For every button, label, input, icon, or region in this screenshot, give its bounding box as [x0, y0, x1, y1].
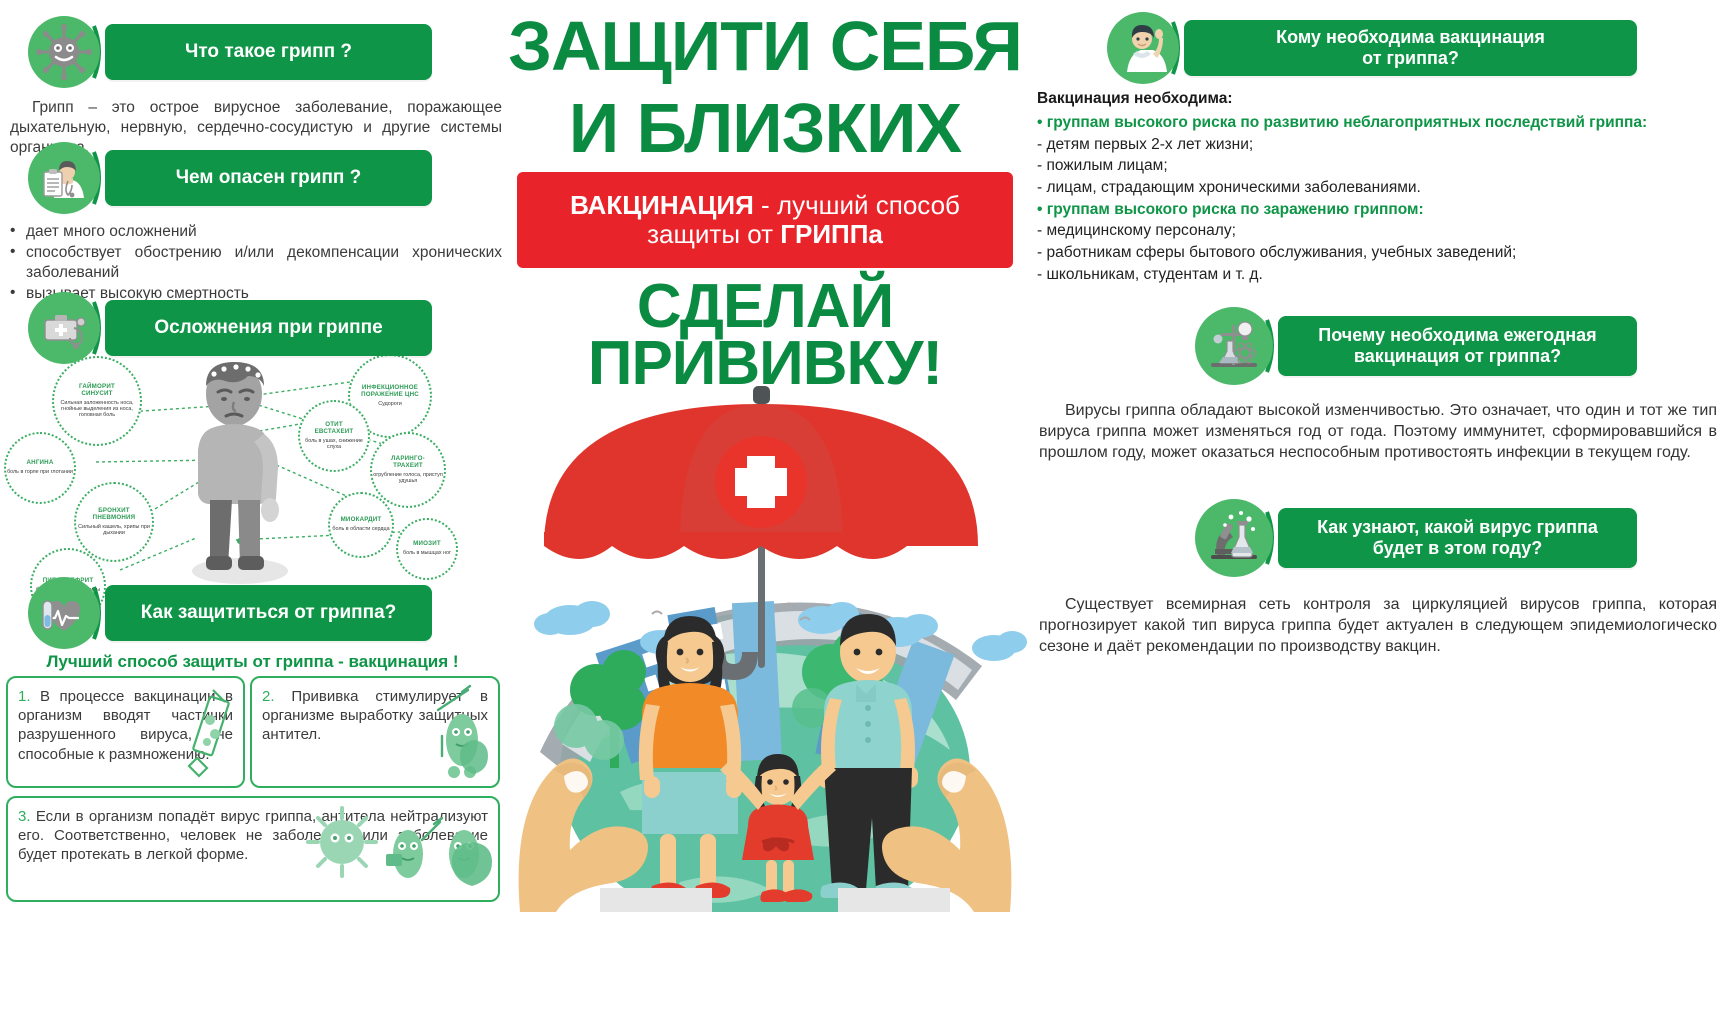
patient-silhouette — [168, 358, 308, 588]
header-label: Как защититься от гриппа? — [105, 585, 432, 641]
complication-bubble: ГАЙМОРИТСИНУСИТ Сильная заложенность нос… — [52, 356, 142, 446]
microscope-flask-icon — [1195, 499, 1273, 577]
science-lab-icon — [1195, 307, 1273, 385]
list-item: - работникам сферы бытового обслуживания… — [1037, 242, 1717, 264]
bubble-desc: боль в ушах, снижение слуха — [300, 438, 368, 450]
antibody-battle-icon — [304, 800, 494, 902]
vaccination-step-2: 2. Прививка стимулирует в организме выра… — [250, 676, 500, 788]
bubble-desc: Сильная заложенность носа, гнойные выдел… — [54, 400, 140, 419]
right-column: Кому необходима вакцинация от гриппа? Ва… — [1025, 0, 1727, 1011]
vaccination-step-1: 1. В процессе вакцинации в организм ввод… — [6, 676, 245, 788]
vaccination-step-3: 3. Если в организм попадёт вирус гриппа,… — [6, 796, 500, 902]
red-banner-line2-pre: защиты от — [647, 219, 780, 249]
bubble-desc: огрубление голоса, приступ удушья — [372, 472, 444, 484]
risk-group-1-title: • группам высокого риска по развитию неб… — [1037, 112, 1717, 134]
bubble-title: ОТИТЕВСТАХЕИТ — [315, 422, 354, 436]
header-how-virus-determined: Как узнают, какой вирус гриппа будет в э… — [1195, 500, 1637, 576]
bubble-desc: боль в горле при глотании — [7, 469, 73, 475]
complication-bubble: МИОЗИТ боль в мышцах ног — [396, 518, 458, 580]
header-label: Почему необходима ежегодная вакцинация о… — [1278, 316, 1637, 376]
bubble-title: ЛАРИНГО-ТРАХЕИТ — [391, 456, 425, 470]
doctor-clipboard-icon — [28, 142, 100, 214]
bubble-desc: Сильный кашель, хрипы при дыхании — [76, 524, 152, 536]
list-item: дает много осложнений — [10, 222, 502, 243]
list-item: - лицам, страдающим хроническими заболев… — [1037, 177, 1717, 199]
header-label: Кому необходима вакцинация от гриппа? — [1184, 20, 1637, 76]
bubble-title: БРОНХИТПНЕВМОНИЯ — [93, 508, 136, 522]
header-why-dangerous: Чем опасен грипп ? — [28, 142, 432, 214]
why-annual-body: Вирусы гриппа обладают высокой изменчиво… — [1039, 400, 1717, 463]
header-line1: Почему необходима ежегодная — [1318, 325, 1596, 346]
risk-group-2-title: • группам высокого риска по заражению гр… — [1037, 199, 1717, 221]
poster-title-line1: ЗАЩИТИ СЕБЯ — [505, 14, 1025, 78]
syringe-icon — [183, 686, 239, 782]
red-banner-line2-strong: ГРИППа — [780, 219, 883, 249]
header-how-to-protect: Как защититься от гриппа? — [28, 577, 432, 649]
vaccination-red-banner: ВАКЦИНАЦИЯ - лучший способ защиты от ГРИ… — [517, 172, 1013, 268]
heart-test-tube-icon — [28, 577, 100, 649]
family-illustration — [500, 352, 1030, 912]
best-protection-subtitle: Лучший способ защиты от гриппа - вакцина… — [0, 652, 505, 672]
complication-bubble: ОТИТЕВСТАХЕИТ боль в ушах, снижение слух… — [298, 400, 370, 472]
header-label: Чем опасен грипп ? — [105, 150, 432, 206]
center-column: ЗАЩИТИ СЕБЯ И БЛИЗКИХ ВАКЦИНАЦИЯ - лучши… — [505, 0, 1025, 1011]
poster-root: Что такое грипп ? Грипп – это острое вир… — [0, 0, 1727, 1011]
antibody-warrior-icon — [424, 684, 496, 784]
header-line2: будет в этом году? — [1317, 538, 1598, 559]
complication-bubble: АНГИНА боль в горле при глотании — [4, 432, 76, 504]
bubble-desc: боль в области сердца — [332, 526, 389, 532]
step-number: 2. — [262, 688, 275, 705]
list-item: - школьникам, студентам и т. д. — [1037, 264, 1717, 286]
header-line2: вакцинация от гриппа? — [1318, 346, 1596, 367]
bubble-title: МИОЗИТ — [413, 541, 441, 548]
bubble-title: ГАЙМОРИТСИНУСИТ — [79, 384, 115, 398]
bubble-desc: Судороги — [378, 401, 402, 407]
list-item: - медицинскому персоналу; — [1037, 220, 1717, 242]
header-complications: Осложнения при гриппе — [28, 292, 432, 364]
red-banner-rest: - лучший способ — [754, 190, 960, 220]
vaccination-required-label: Вакцинация необходима: — [1037, 90, 1233, 108]
virus-icon — [28, 16, 100, 88]
bubble-desc: боль в мышцах ног — [403, 550, 451, 556]
header-why-annual-vaccination: Почему необходима ежегодная вакцинация о… — [1195, 308, 1637, 384]
how-virus-determined-body: Существует всемирная сеть контроля за ци… — [1039, 594, 1717, 657]
complication-bubble: МИОКАРДИТ боль в области сердца — [328, 492, 394, 558]
bubble-title: ИНФЕКЦИОННОЕ ПОРАЖЕНИЕ ЦНС — [350, 385, 430, 399]
bubble-title: АНГИНА — [26, 460, 53, 467]
header-line1: Кому необходима вакцинация — [1276, 27, 1545, 48]
complication-bubble: ЛАРИНГО-ТРАХЕИТ огрубление голоса, прист… — [370, 432, 446, 508]
list-item: - пожилым лицам; — [1037, 155, 1717, 177]
header-what-is-flu: Что такое грипп ? — [28, 16, 432, 88]
step-number: 3. — [18, 808, 31, 825]
complications-diagram: ГАЙМОРИТСИНУСИТ Сильная заложенность нос… — [0, 352, 505, 592]
list-item: - детям первых 2-х лет жизни; — [1037, 134, 1717, 156]
header-line2: от гриппа? — [1276, 48, 1545, 69]
complication-bubble: БРОНХИТПНЕВМОНИЯ Сильный кашель, хрипы п… — [74, 482, 154, 562]
left-column: Что такое грипп ? Грипп – это острое вир… — [0, 0, 505, 1011]
header-label: Осложнения при гриппе — [105, 300, 432, 356]
bubble-title: МИОКАРДИТ — [341, 517, 382, 524]
red-banner-strong: ВАКЦИНАЦИЯ — [570, 190, 754, 220]
header-line1: Как узнают, какой вирус гриппа — [1317, 517, 1598, 538]
step-number: 1. — [18, 688, 31, 705]
header-who-needs-vaccination: Кому необходима вакцинация от гриппа? — [1107, 12, 1637, 84]
doctor-pointing-icon — [1107, 12, 1179, 84]
header-label: Как узнают, какой вирус гриппа будет в э… — [1278, 508, 1637, 568]
vaccination-groups-list: • группам высокого риска по развитию неб… — [1037, 112, 1717, 286]
header-label: Что такое грипп ? — [105, 24, 432, 80]
first-aid-kit-icon — [28, 292, 100, 364]
poster-title-line2: И БЛИЗКИХ — [505, 96, 1025, 160]
list-item: способствует обострению и/или декомпенса… — [10, 243, 502, 284]
